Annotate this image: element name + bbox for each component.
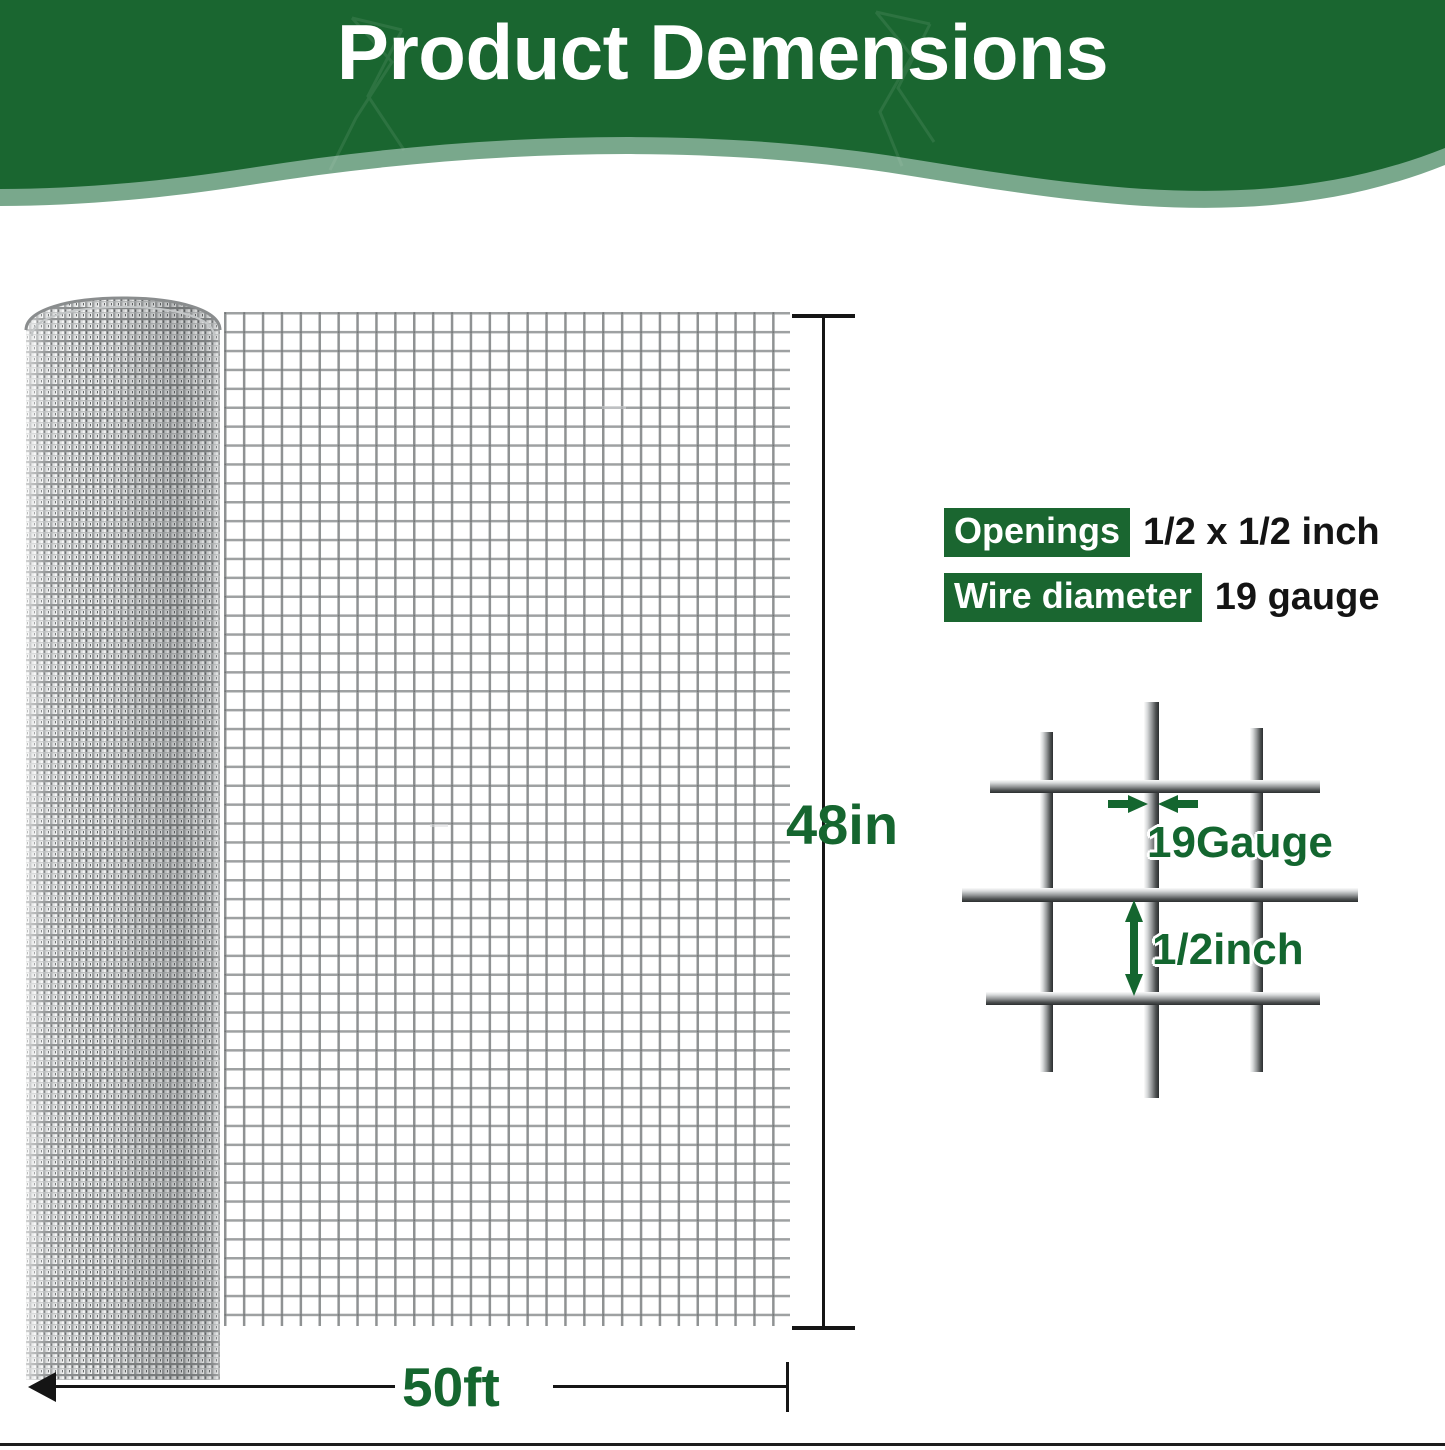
gauge-annotation-label: 19Gauge bbox=[1147, 818, 1333, 868]
spec-row-wire-diameter: Wire diameter 19 gauge bbox=[944, 573, 1414, 622]
width-dimension-cap-right bbox=[786, 1362, 789, 1412]
bottom-rule bbox=[0, 1443, 1445, 1446]
roll-body bbox=[22, 296, 224, 1380]
spec-value-openings: 1/2 x 1/2 inch bbox=[1143, 511, 1380, 554]
wire-mesh-roll bbox=[22, 296, 224, 1380]
height-dimension-cap-bottom bbox=[792, 1326, 855, 1330]
mesh-grid bbox=[224, 312, 790, 1326]
header-banner: Product Demensions bbox=[0, 0, 1445, 230]
page-title: Product Demensions bbox=[0, 8, 1445, 98]
spec-value-wire-diameter: 19 gauge bbox=[1215, 576, 1380, 619]
wire-mesh-panel bbox=[224, 312, 790, 1326]
opening-annotation-label: 1/2inch bbox=[1152, 925, 1304, 975]
width-dimension-line-left bbox=[38, 1385, 395, 1388]
spec-chip-openings: Openings bbox=[944, 508, 1130, 557]
width-dimension-label: 50ft bbox=[402, 1355, 500, 1419]
spec-row-openings: Openings 1/2 x 1/2 inch bbox=[944, 508, 1414, 557]
width-dimension-line-right bbox=[553, 1385, 788, 1388]
product-dimensions-infographic: Product Demensions bbox=[0, 0, 1445, 1450]
height-dimension-label: 48in bbox=[786, 792, 898, 857]
mesh-detail-diagram bbox=[962, 700, 1382, 1100]
opening-arrow-group bbox=[1125, 900, 1143, 996]
specification-list: Openings 1/2 x 1/2 inch Wire diameter 19… bbox=[944, 508, 1414, 638]
spec-chip-wire-diameter: Wire diameter bbox=[944, 573, 1202, 622]
